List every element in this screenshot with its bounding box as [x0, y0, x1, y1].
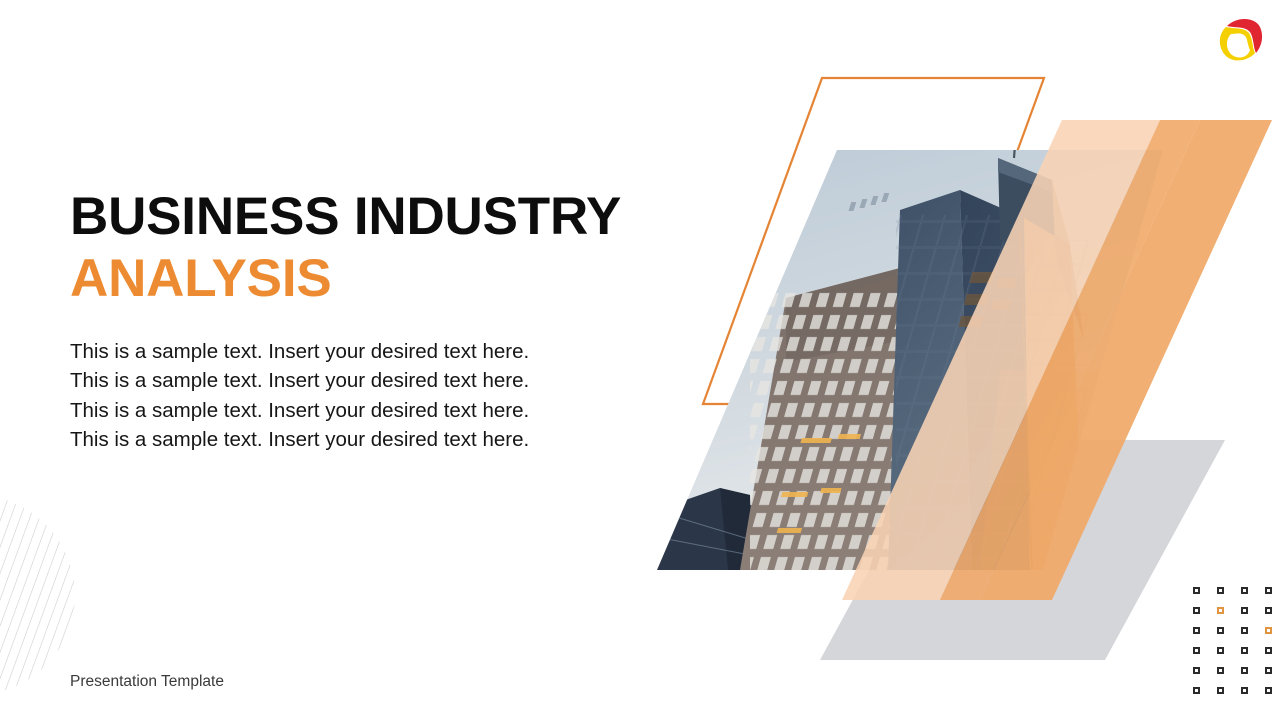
page-title-line2: ANALYSIS [70, 248, 630, 310]
body-paragraph: This is a sample text. Insert your desir… [70, 337, 560, 454]
page-title-line1: BUSINESS INDUSTRY [70, 186, 630, 248]
graphic-composition [600, 40, 1280, 660]
presentation-slide: BUSINESS INDUSTRY ANALYSIS This is a sam… [0, 0, 1280, 720]
text-column: BUSINESS INDUSTRY ANALYSIS This is a sam… [70, 186, 630, 454]
brand-logo[interactable] [1213, 13, 1267, 67]
footer-label: Presentation Template [70, 673, 224, 691]
logo-yellow-arc [1220, 27, 1255, 60]
dot-grid-decoration [1190, 584, 1280, 694]
logo-red-arc [1227, 19, 1262, 53]
hatched-circle-decoration [0, 495, 75, 695]
